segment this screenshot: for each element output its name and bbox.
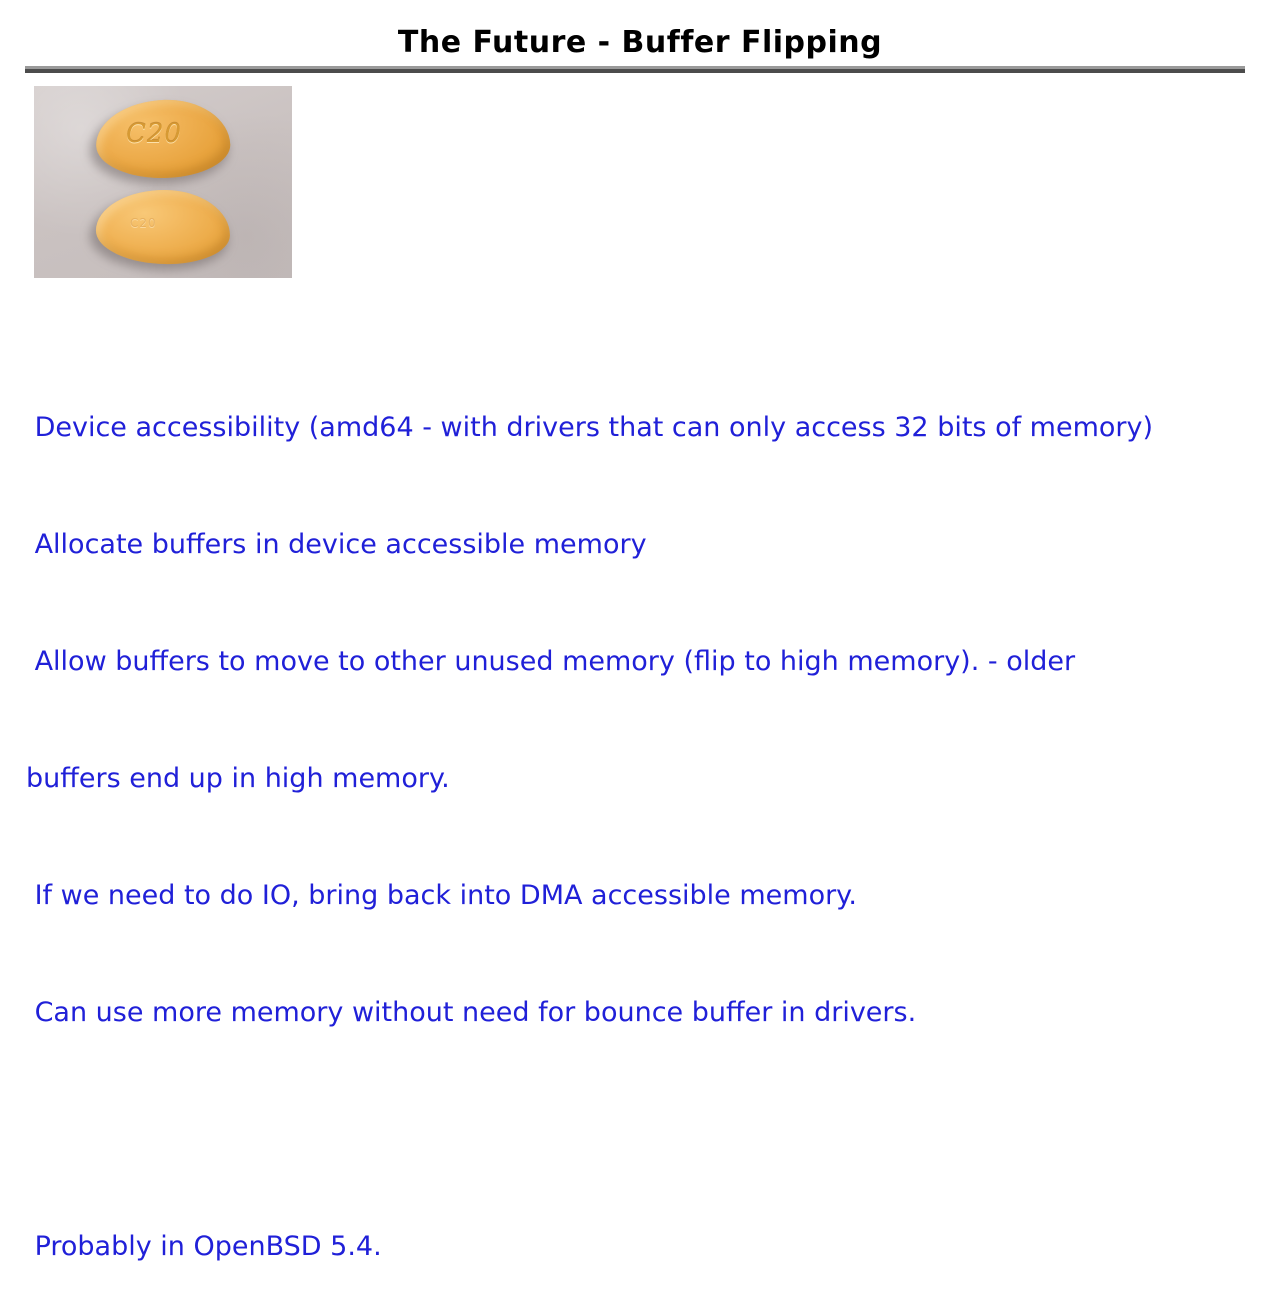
body-line: If we need to do IO, bring back into DMA… (26, 876, 1256, 915)
body-line: buffers end up in high memory. (26, 759, 1256, 798)
pills-photo: C20 C20 (34, 86, 292, 278)
page-title: The Future - Buffer Flipping (0, 26, 1280, 60)
body-line: Allow buffers to move to other unused me… (26, 642, 1256, 681)
slide-body: Device accessibility (amd64 - with drive… (26, 330, 1256, 1305)
body-line-spacer (26, 1110, 1256, 1149)
body-line: Allocate buffers in device accessible me… (26, 525, 1256, 564)
body-line: Probably in OpenBSD 5.4. (26, 1227, 1256, 1266)
title-divider-shadow (25, 69, 1245, 73)
pill-bottom-imprint: C20 (130, 216, 210, 230)
body-line: Can use more memory without need for bou… (26, 993, 1256, 1032)
title-divider (25, 66, 1245, 73)
pill-top-imprint: C20 (126, 120, 216, 148)
body-line: Device accessibility (amd64 - with drive… (26, 408, 1256, 447)
